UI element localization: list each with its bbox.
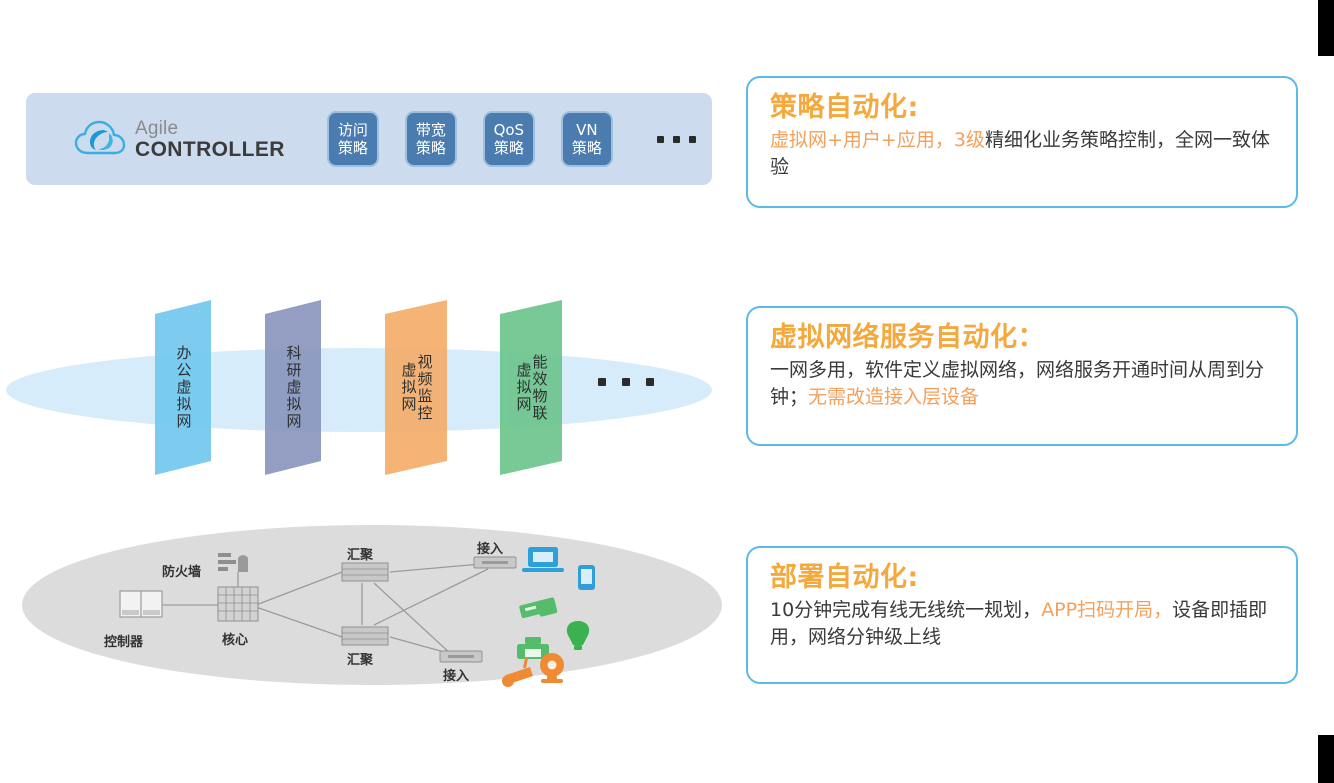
topology-label-access-top: 接入	[477, 538, 503, 557]
policy-chip-qos[interactable]: QoS 策略	[483, 111, 535, 167]
logo-controller-text: CONTROLLER	[135, 139, 285, 160]
policy-more-ellipsis-icon[interactable]	[657, 136, 696, 143]
topology-links	[162, 563, 492, 657]
vn-slab-video-surveillance-label-b: 虚拟网	[401, 362, 416, 413]
topology-node-core	[218, 572, 258, 621]
policy-chip-qos-line1: QoS	[494, 121, 525, 139]
callout-card-deployment-automation: 部署自动化: 10分钟完成有线无线统一规划，APP扫码开局，设备即插即用，网络分…	[746, 546, 1298, 684]
policy-chip-vn-line2: 策略	[572, 139, 602, 157]
virtual-network-backdrop-ellipse	[6, 348, 712, 432]
topology-label-firewall: 防火墙	[162, 561, 201, 580]
topology-label-controller: 控制器	[104, 631, 143, 650]
card-deploy-title: 部署自动化:	[770, 562, 1276, 593]
callout-card-policy-automation: 策略自动化: 虚拟网+用户+应用，3级精细化业务策略控制，全网一致体验	[746, 76, 1298, 208]
policy-chip-bandwidth-line1: 带宽	[416, 121, 446, 139]
topology-endpoint-webcam-icon	[540, 653, 564, 683]
card-policy-body-highlight: 虚拟网+用户+应用，3级	[770, 129, 985, 151]
topology-endpoint-lightbulb-icon	[567, 621, 589, 650]
vn-slab-research[interactable]: 科研虚拟网	[265, 300, 321, 475]
card-policy-title: 策略自动化:	[770, 92, 1276, 123]
vn-slab-energy-iot-label-b: 虚拟网	[516, 362, 531, 413]
topology-label-agg-top: 汇聚	[347, 544, 373, 563]
vn-slab-video-surveillance[interactable]: 虚拟网 视频监控	[385, 300, 447, 475]
network-topology-scene: 控制器 防火墙 核心 汇聚 汇聚 接入 接入	[22, 525, 722, 690]
topology-node-agg-bottom	[342, 627, 388, 645]
topology-node-access-bottom	[440, 651, 482, 662]
card-deploy-body-rest: 10分钟完成有线无线统一规划，	[770, 599, 1041, 621]
vn-slab-research-label: 科研虚拟网	[286, 345, 301, 430]
policy-chip-access-line1: 访问	[338, 121, 368, 139]
vn-slab-energy-iot-label-a: 能效物联	[532, 354, 547, 422]
card-vn-body-highlight: 无需改造接入层设备	[808, 386, 979, 408]
topology-node-agg-top	[342, 563, 388, 581]
virtual-network-scene: 办公虚拟网 科研虚拟网 虚拟网 视频监控 虚拟网 能效物联	[0, 290, 720, 490]
vn-ellipsis-dot-1	[598, 378, 606, 386]
policy-chip-row: 访问 策略 带宽 策略 QoS 策略 VN 策略	[327, 111, 696, 167]
topology-endpoint-surveillance-camera-icon	[502, 657, 533, 687]
topology-endpoint-scanner-icon	[519, 597, 558, 618]
slide-canvas: Agile CONTROLLER 访问 策略 带宽 策略 QoS 策略 VN 策…	[0, 0, 1334, 783]
policy-chip-access[interactable]: 访问 策略	[327, 111, 379, 167]
crop-bar-top-right	[1318, 0, 1334, 56]
cloud-swirl-icon	[74, 119, 126, 159]
logo-wordmark: Agile CONTROLLER	[135, 119, 285, 160]
card-deploy-body: 10分钟完成有线无线统一规划，APP扫码开局，设备即插即用，网络分钟级上线	[770, 597, 1276, 651]
topology-label-core: 核心	[222, 629, 248, 648]
topology-node-firewall-icon	[218, 553, 248, 572]
policy-chip-vn-line1: VN	[576, 121, 597, 139]
ellipsis-dot-2	[673, 136, 680, 143]
topology-endpoint-laptop-icon	[522, 547, 564, 572]
callout-card-vn-service-automation: 虚拟网络服务自动化： 一网多用，软件定义虚拟网络，网络服务开通时间从周到分钟；无…	[746, 306, 1298, 446]
vn-slab-video-surveillance-label-a: 视频监控	[417, 354, 432, 422]
topology-label-access-bottom: 接入	[443, 665, 469, 684]
policy-chip-qos-line2: 策略	[494, 139, 524, 157]
policy-chip-vn[interactable]: VN 策略	[561, 111, 613, 167]
vn-more-ellipsis-icon[interactable]	[598, 378, 654, 386]
agile-controller-bar: Agile CONTROLLER 访问 策略 带宽 策略 QoS 策略 VN 策…	[26, 93, 712, 185]
logo-agile-text: Agile	[135, 119, 285, 138]
policy-chip-bandwidth[interactable]: 带宽 策略	[405, 111, 457, 167]
ellipsis-dot-3	[689, 136, 696, 143]
card-vn-title: 虚拟网络服务自动化：	[770, 322, 1276, 353]
policy-chip-access-line2: 策略	[338, 139, 368, 157]
ellipsis-dot-1	[657, 136, 664, 143]
card-deploy-body-highlight: APP扫码开局，	[1041, 599, 1172, 621]
vn-slab-office[interactable]: 办公虚拟网	[155, 300, 211, 475]
topology-node-controller	[120, 591, 162, 617]
agile-controller-logo: Agile CONTROLLER	[74, 119, 285, 160]
vn-slab-office-label: 办公虚拟网	[176, 345, 191, 430]
crop-bar-bottom-right	[1318, 735, 1334, 783]
vn-slab-energy-iot[interactable]: 虚拟网 能效物联	[500, 300, 562, 475]
topology-label-agg-bottom: 汇聚	[347, 649, 373, 668]
vn-ellipsis-dot-2	[622, 378, 630, 386]
card-vn-body: 一网多用，软件定义虚拟网络，网络服务开通时间从周到分钟；无需改造接入层设备	[770, 357, 1276, 411]
topology-endpoint-printer-icon	[517, 637, 549, 659]
topology-endpoint-tablet-icon	[578, 565, 595, 590]
card-policy-body: 虚拟网+用户+应用，3级精细化业务策略控制，全网一致体验	[770, 127, 1276, 181]
policy-chip-bandwidth-line2: 策略	[416, 139, 446, 157]
topology-node-access-top	[474, 557, 516, 568]
vn-ellipsis-dot-3	[646, 378, 654, 386]
